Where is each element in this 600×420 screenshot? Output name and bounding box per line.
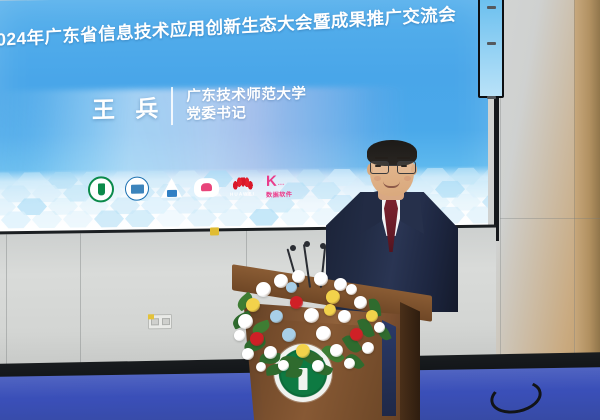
flower-bloom	[296, 344, 310, 358]
monitor-vent	[487, 6, 496, 9]
kingsoft-logo-icon: K •••• 数据软件	[266, 173, 292, 199]
flower-arrangement	[226, 252, 416, 374]
flower-bloom	[256, 282, 271, 297]
eyebrow-right	[397, 157, 410, 159]
flower-bloom	[250, 332, 264, 346]
outlet-socket	[162, 318, 170, 325]
monitor-vent	[487, 96, 496, 99]
cloud-emblem-icon	[194, 177, 219, 197]
huawei-flower-mark	[231, 177, 253, 190]
flower-bloom	[366, 310, 378, 322]
speaker-name-block: 王 兵 广东技术师范大学 党委书记	[92, 84, 306, 127]
flower-bloom	[270, 310, 283, 323]
conference-photo: 2024年广东省信息技术应用创新生态大会暨成果推广交流会 王 兵 广东技术师范大…	[0, 0, 600, 420]
huawei-logo-icon: HUAWEI	[230, 177, 255, 197]
flower-bloom	[330, 344, 343, 357]
side-monitor	[478, 0, 504, 98]
outlet-label	[148, 314, 154, 319]
cheek-left	[374, 176, 381, 181]
flower-bloom	[314, 272, 328, 286]
flower-bloom	[326, 290, 340, 304]
wall-power-outlet[interactable]	[148, 314, 172, 329]
speaker-role: 党委书记	[186, 103, 306, 124]
glasses-lens-right	[397, 161, 416, 174]
flower-bloom	[242, 348, 254, 360]
wall-seam	[500, 218, 600, 219]
flower-bloom	[304, 308, 319, 323]
sponsor-logo-row: HUAWEI K •••• 数据软件	[88, 172, 292, 202]
flower-bloom	[316, 326, 331, 341]
flower-bloom	[264, 346, 277, 359]
flower-bloom	[286, 282, 297, 293]
huawei-wordmark: HUAWEI	[230, 191, 255, 197]
flower-bloom	[324, 304, 336, 316]
flower-bloom	[354, 296, 367, 309]
flower-bloom	[238, 314, 253, 329]
divider	[171, 87, 173, 125]
flower-bloom	[278, 360, 289, 371]
panel-seam	[6, 234, 7, 370]
institute-seal-emblem-icon	[125, 176, 149, 201]
flower-bloom	[292, 270, 305, 283]
eyebrow-left	[375, 157, 388, 159]
flower-bloom	[312, 360, 324, 372]
speaker-affiliation: 广东技术师范大学 党委书记	[186, 85, 306, 124]
flower-bloom	[362, 342, 374, 354]
flower-bloom	[246, 298, 260, 312]
flower-bloom	[374, 322, 385, 333]
kingsoft-k-mark: K	[266, 173, 277, 188]
glasses-lens-left	[370, 161, 389, 174]
yellow-clip	[210, 227, 219, 235]
microphone-head	[290, 245, 296, 251]
flower-bloom	[344, 358, 355, 369]
mountain-triangle-emblem-icon	[160, 177, 183, 198]
flower-bloom	[256, 362, 266, 372]
kingsoft-wordmark: 数据软件	[266, 189, 292, 199]
flower-bloom	[338, 310, 351, 323]
monitor-vent	[487, 42, 496, 45]
cheek-right	[404, 176, 411, 181]
flower-bloom	[234, 330, 245, 341]
kingsoft-decor: ••••	[278, 181, 285, 186]
microphone-head	[304, 241, 310, 247]
flower-bloom	[350, 328, 363, 341]
wall-seam	[574, 0, 575, 360]
glasses-bridge	[387, 165, 397, 166]
event-title: 2024年广东省信息技术应用创新生态大会暨成果推广交流会	[0, 1, 456, 52]
side-monitor-screen	[480, 0, 502, 96]
panel-seam	[80, 233, 81, 369]
flower-bloom	[282, 328, 296, 342]
guangdong-government-emblem-icon	[88, 176, 114, 203]
flower-bloom	[290, 296, 303, 309]
microphone-head	[320, 243, 326, 249]
flower-bloom	[346, 284, 357, 295]
speaker-name: 王 兵	[92, 89, 165, 125]
